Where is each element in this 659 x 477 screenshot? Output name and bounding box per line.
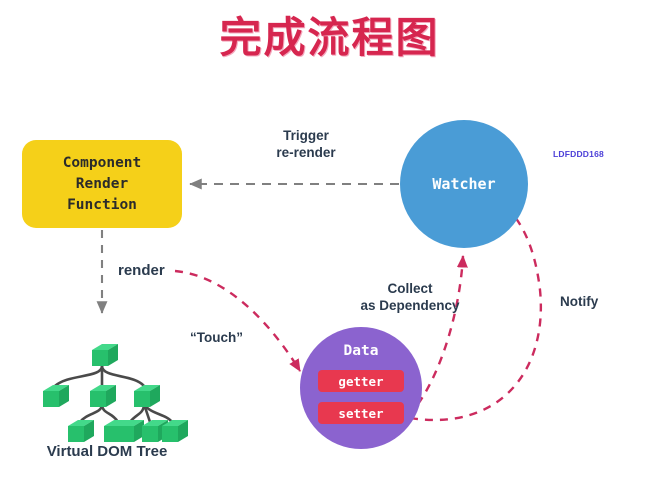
watcher-label: Watcher — [432, 175, 495, 193]
virtual-dom-tree-caption: Virtual DOM Tree — [22, 443, 192, 460]
watermark-bottom-right — [500, 464, 659, 477]
edge-label-render: render — [118, 262, 188, 279]
node-watcher[interactable]: Watcher — [400, 120, 528, 248]
component-line-1: Component — [63, 153, 142, 174]
edge-collect-as-dependency — [418, 256, 463, 404]
node-data[interactable]: Data getter setter — [300, 327, 422, 449]
diagram-canvas: 完成流程图 Component Render Function Watcher — [0, 0, 659, 477]
vdom-cubes — [43, 344, 188, 442]
component-line-2: Render — [76, 174, 128, 195]
data-label: Data — [300, 343, 422, 359]
watermark-top-right: LDFDDD168 — [553, 149, 604, 159]
component-line-3: Function — [67, 195, 137, 216]
node-component-render-function[interactable]: Component Render Function — [22, 140, 182, 228]
edge-label-touch: “Touch” — [190, 329, 260, 346]
edge-label-notify: Notify — [560, 293, 620, 310]
edge-touch — [175, 271, 300, 371]
edge-label-collect-as-dependency: Collect as Dependency — [355, 280, 465, 314]
virtual-dom-tree-graphic — [30, 330, 190, 442]
edge-label-trigger-re-render: Trigger re-render — [246, 127, 366, 161]
data-setter-chip[interactable]: setter — [318, 402, 404, 424]
data-getter-chip[interactable]: getter — [318, 370, 404, 392]
